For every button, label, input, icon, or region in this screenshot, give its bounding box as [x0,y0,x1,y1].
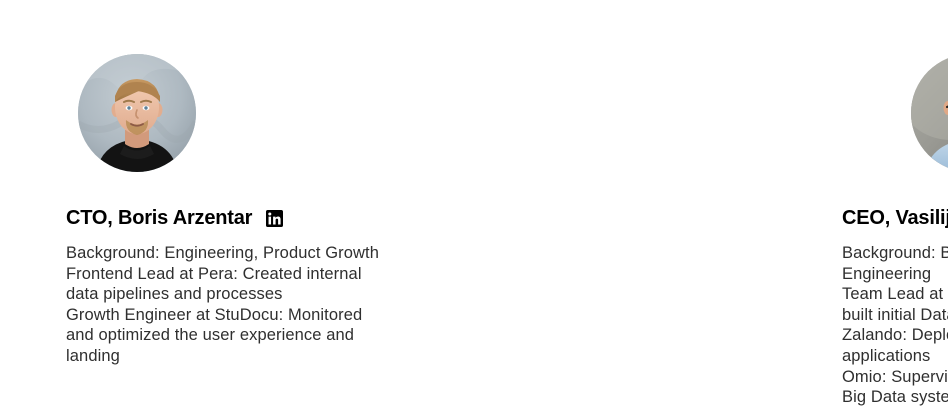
bio-line: Zalando: Deployed machine learning [842,325,948,346]
avatar-boris-arzentar [78,54,196,172]
bio-line: Omio: Supervised creation of real-time [842,367,948,388]
bio-line: Big Data systems [842,387,948,408]
linkedin-icon[interactable] [266,210,283,227]
profile-card-ceo: CEO, Vasilije Markovic Background: Busin… [832,0,948,412]
bio-line: Background: Business & Psychology & [842,243,948,264]
profile-heading-ceo: CEO, Vasilije Markovic [842,206,948,230]
profile-heading-cto: CTO, Boris Arzentar [66,206,466,230]
profile-bio-ceo: Background: Business & Psychology & Engi… [842,243,948,408]
team-profiles-section: CTO, Boris Arzentar Background: Engineer… [0,0,948,412]
profile-card-cto: CTO, Boris Arzentar Background: Engineer… [66,0,466,412]
bio-line: Background: Engineering, Product Growth [66,243,406,264]
bio-line: Growth Engineer at StuDocu: Monitored [66,305,406,326]
bio-line: built initial Data Warehouse [842,305,948,326]
bio-line: data pipelines and processes [66,284,406,305]
bio-line: and optimized the user experience and [66,325,406,346]
profile-bio-cto: Background: Engineering, Product Growth … [66,243,406,367]
bio-line: Team Lead at Taxfix: Supported series A, [842,284,948,305]
bio-line: landing [66,346,406,367]
profile-name: CEO, Vasilije Markovic [842,207,948,230]
bio-line: applications [842,346,948,367]
avatar-vasilije-markovic [911,54,948,172]
profile-name: CTO, Boris Arzentar [66,207,252,230]
bio-line: Frontend Lead at Pera: Created internal [66,264,406,285]
bio-line: Engineering [842,264,948,285]
